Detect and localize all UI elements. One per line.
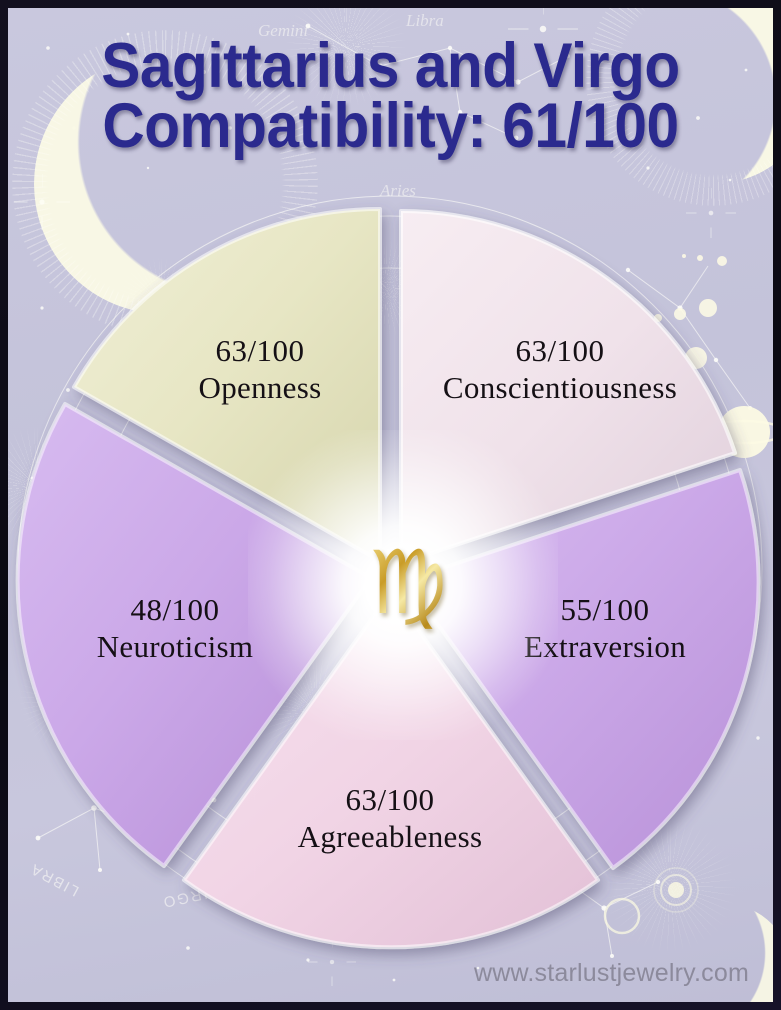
pie-label-agreeableness: 63/100 Agreeableness <box>255 782 525 855</box>
conscientiousness-score: 63/100 <box>410 333 710 370</box>
conscientiousness-name: Conscientiousness <box>410 370 710 407</box>
agreeableness-name: Agreeableness <box>255 819 525 856</box>
page-title: Sagittarius and Virgo Compatibility: 61/… <box>0 36 781 157</box>
pie-label-conscientiousness: 63/100 Conscientiousness <box>410 333 710 406</box>
pie-label-openness: 63/100 Openness <box>130 333 390 406</box>
site-watermark: www.starlustjewelry.com <box>474 959 749 988</box>
openness-name: Openness <box>130 370 390 407</box>
agreeableness-score: 63/100 <box>255 782 525 819</box>
openness-score: 63/100 <box>130 333 390 370</box>
virgo-zodiac-symbol: ♍ <box>356 527 460 639</box>
title-line-1: Sagittarius and Virgo <box>27 36 753 96</box>
title-line-2: Compatibility: 61/100 <box>27 96 753 156</box>
infographic-canvas: LIBRA VIRGO Gemini Libra Aries <box>0 0 781 1010</box>
